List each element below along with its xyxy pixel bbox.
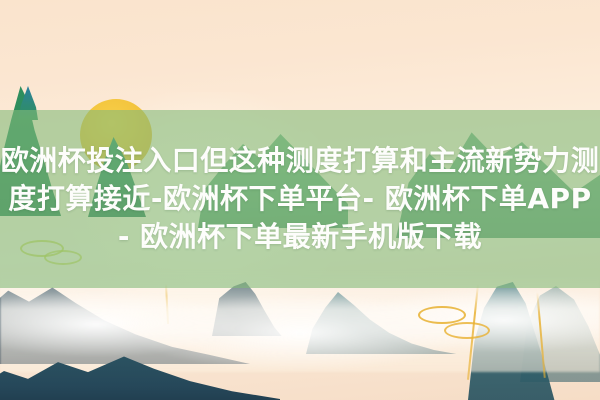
headline-container: 欧洲杯投注入口但这种测度打算和主流新势力测度打算接近-欧洲杯下单平台- 欧洲杯下… — [0, 110, 600, 288]
banner-image: 欧洲杯投注入口但这种测度打算和主流新势力测度打算接近-欧洲杯下单平台- 欧洲杯下… — [0, 0, 600, 400]
gold-swirl-accent — [444, 322, 490, 339]
gold-swirl-accent — [418, 306, 466, 324]
headline-text: 欧洲杯投注入口但这种测度打算和主流新势力测度打算接近-欧洲杯下单平台- 欧洲杯下… — [0, 142, 600, 256]
